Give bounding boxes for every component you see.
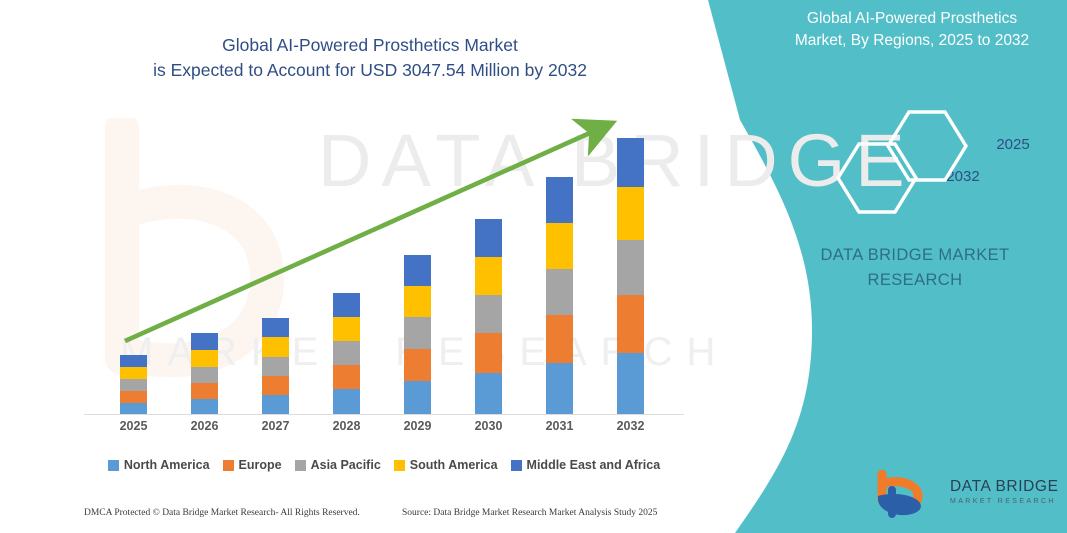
x-axis-label-2030: 2030 [459,419,519,433]
bar-segment [120,391,147,403]
bar-column-2025 [120,355,147,415]
bar-segment [262,357,289,376]
chart-plot-area [84,100,684,415]
brand-line-1: DATA BRIDGE MARKET [820,246,1009,264]
bar-segment [546,315,573,363]
bar-segment [333,389,360,415]
bar-segment [546,177,573,223]
bar-segment [617,187,644,240]
legend-label: Asia Pacific [311,458,381,472]
bar-segment [191,350,218,367]
page-title: Global AI-Powered Prosthetics Market is … [60,33,680,83]
legend-item[interactable]: Asia Pacific [295,458,381,472]
x-axis-label-2026: 2026 [175,419,235,433]
infographic-canvas: DATA BRIDGE MARKET RESEARCH Global AI-Po… [0,0,1067,533]
x-axis-label-2027: 2027 [246,419,306,433]
bar-segment [546,363,573,415]
bar-segment [333,293,360,317]
bar-column-2031 [546,177,573,415]
legend-label: Middle East and Africa [527,458,661,472]
bar-segment [333,317,360,341]
bar-segment [475,333,502,373]
bar-column-2029 [404,255,431,415]
brand-line-2: RESEARCH [790,268,1040,293]
bar-segment [617,295,644,353]
headline-line-1: Global AI-Powered Prosthetics Market [222,35,518,55]
legend-swatch-icon [108,460,119,471]
x-axis-label-2025: 2025 [104,419,164,433]
bar-segment [120,379,147,391]
legend-swatch-icon [511,460,522,471]
bar-segment [191,367,218,383]
bar-segment [262,376,289,395]
legend-item[interactable]: Europe [223,458,282,472]
logo-sub-text: MARKET RESEARCH [950,498,1067,505]
panel-title-line-1: Global AI-Powered Prosthetics [807,10,1017,27]
bar-segment [475,257,502,295]
bar-segment [475,295,502,333]
bar-segment [475,219,502,257]
bar-segment [404,381,431,415]
legend-swatch-icon [295,460,306,471]
hexagon-outline-icon [884,108,970,184]
footer-source: Source: Data Bridge Market Research Mark… [402,508,657,518]
bar-segment [404,317,431,349]
bar-segment [262,395,289,415]
bar-segment [191,399,218,415]
panel-title-line-2: Market, By Regions, 2025 to 2032 [795,32,1029,49]
bar-segment [617,240,644,295]
bar-column-2030 [475,219,502,415]
bar-segment [333,365,360,389]
chart-baseline [84,414,684,415]
bar-segment [404,255,431,286]
bar-segment [191,333,218,350]
panel-title: Global AI-Powered Prosthetics Market, By… [772,8,1052,52]
legend-swatch-icon [394,460,405,471]
legend-label: South America [410,458,498,472]
logo-wordmark: DATA BRIDGE MARKET RESEARCH [950,478,1067,505]
legend-item[interactable]: North America [108,458,210,472]
chart-legend: North AmericaEuropeAsia PacificSouth Ame… [84,454,684,476]
legend-label: North America [124,458,210,472]
bar-column-2026 [191,333,218,415]
bar-segment [262,318,289,337]
bar-segment [546,269,573,315]
legend-item[interactable]: Middle East and Africa [511,458,661,472]
bar-segment [120,355,147,367]
bar-segment [262,337,289,357]
logo-main-text: DATA BRIDGE [950,478,1067,496]
chart-x-axis: 20252026202720282029203020312032 [84,419,684,439]
headline-line-2: is Expected to Account for USD 3047.54 M… [60,58,680,83]
bar-segment [120,367,147,379]
bar-column-2032 [617,138,644,415]
bar-segment [333,341,360,365]
bar-segment [404,286,431,317]
x-axis-label-2032: 2032 [601,419,661,433]
x-axis-label-2029: 2029 [388,419,448,433]
legend-swatch-icon [223,460,234,471]
bar-segment [475,373,502,415]
hexagon-badge-2025: 2025 [884,108,970,184]
bar-column-2028 [333,293,360,415]
hexagon-label-2025: 2025 [970,136,1056,153]
bar-segment [404,349,431,381]
bar-segment [617,138,644,187]
bar-column-2027 [262,318,289,415]
bar-segment [191,383,218,399]
x-axis-label-2031: 2031 [530,419,590,433]
stacked-bar-chart [84,100,684,415]
bar-segment [617,353,644,415]
footer-copyright: DMCA Protected © Data Bridge Market Rese… [84,508,360,518]
bar-segment [546,223,573,269]
x-axis-label-2028: 2028 [317,419,377,433]
brand-name: DATA BRIDGE MARKET RESEARCH [790,243,1040,293]
legend-label: Europe [239,458,282,472]
legend-item[interactable]: South America [394,458,498,472]
